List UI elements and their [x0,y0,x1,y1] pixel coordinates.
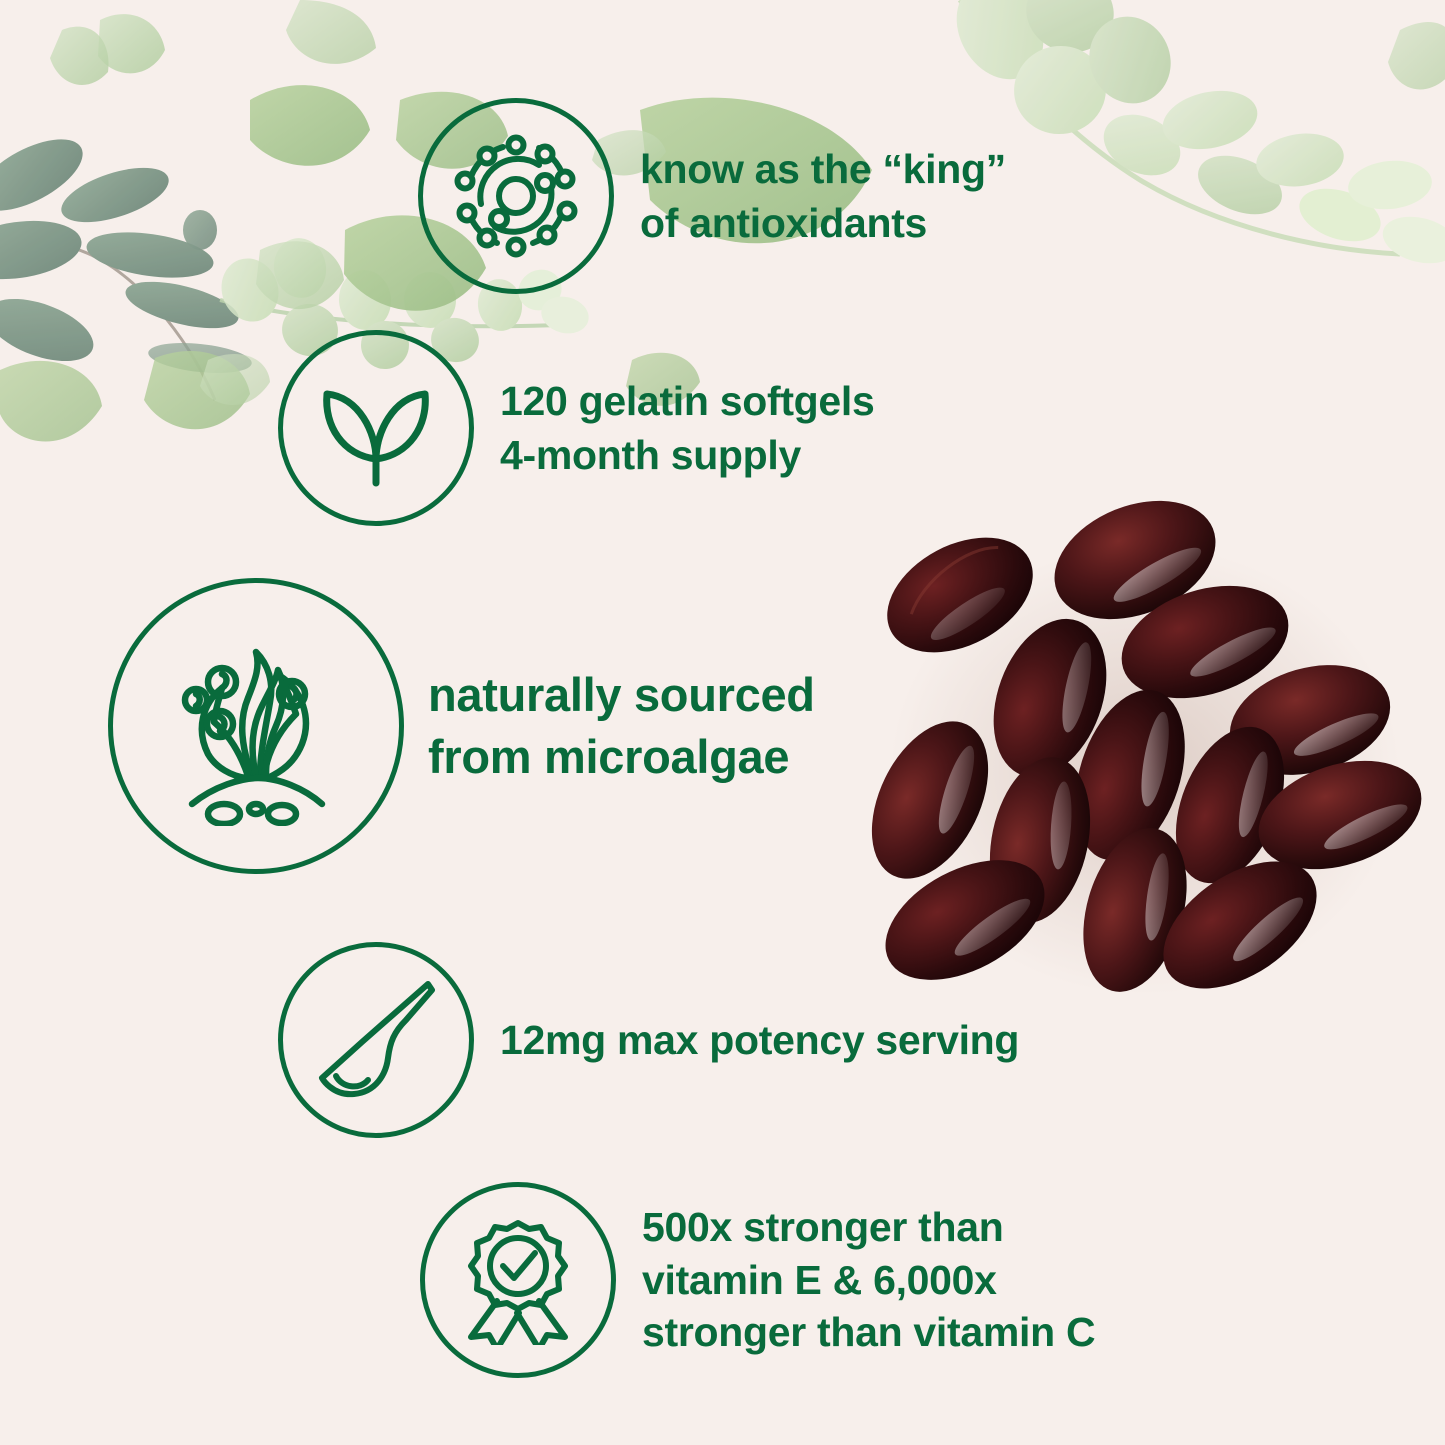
spoon-icon-circle [278,942,474,1138]
feature-line: know as the “king” [640,142,1006,196]
feature-strength: 500x stronger than vitamin E & 6,000x st… [420,1182,1095,1378]
feature-line: 4-month supply [500,428,875,482]
feature-potency: 12mg max potency serving [278,942,1019,1138]
feature-microalgae-text: naturally sourced from microalgae [428,664,815,788]
spoon-icon [310,974,442,1106]
feature-line: 12mg max potency serving [500,1013,1019,1067]
seaweed-algae-icon [156,626,356,826]
leaf-branch-dark [0,125,253,400]
feature-line: of antioxidants [640,196,1006,250]
feature-antioxidant-text: know as the “king” of antioxidants [640,142,1006,250]
seaweed-icon-circle [108,578,404,874]
award-ribbon-icon [453,1215,583,1345]
eucalyptus-sprig-top-right [939,0,1445,271]
product-infographic: know as the “king” of antioxidants 120 g… [0,0,1445,1445]
feature-line: stronger than vitamin C [642,1306,1095,1358]
feature-line: from microalgae [428,726,815,788]
softgel-capsules [848,478,1425,1000]
feature-line: vitamin E & 6,000x [642,1254,1095,1306]
feature-line: 120 gelatin softgels [500,374,875,428]
feature-strength-text: 500x stronger than vitamin E & 6,000x st… [642,1201,1095,1358]
antioxidant-molecule-icon [451,131,581,261]
feature-softgels: 120 gelatin softgels 4-month supply [278,330,875,526]
feature-line: 500x stronger than [642,1201,1095,1253]
feature-potency-text: 12mg max potency serving [500,1013,1019,1067]
feature-line: naturally sourced [428,664,815,726]
sprout-leaf-icon [311,363,441,493]
feature-antioxidant: know as the “king” of antioxidants [418,98,1006,294]
award-icon-circle [420,1182,616,1378]
antioxidant-icon-circle [418,98,614,294]
feature-microalgae: naturally sourced from microalgae [108,578,815,874]
sprout-icon-circle [278,330,474,526]
feature-softgels-text: 120 gelatin softgels 4-month supply [500,374,875,482]
astaxanthin-softgels-photo [845,470,1425,1000]
